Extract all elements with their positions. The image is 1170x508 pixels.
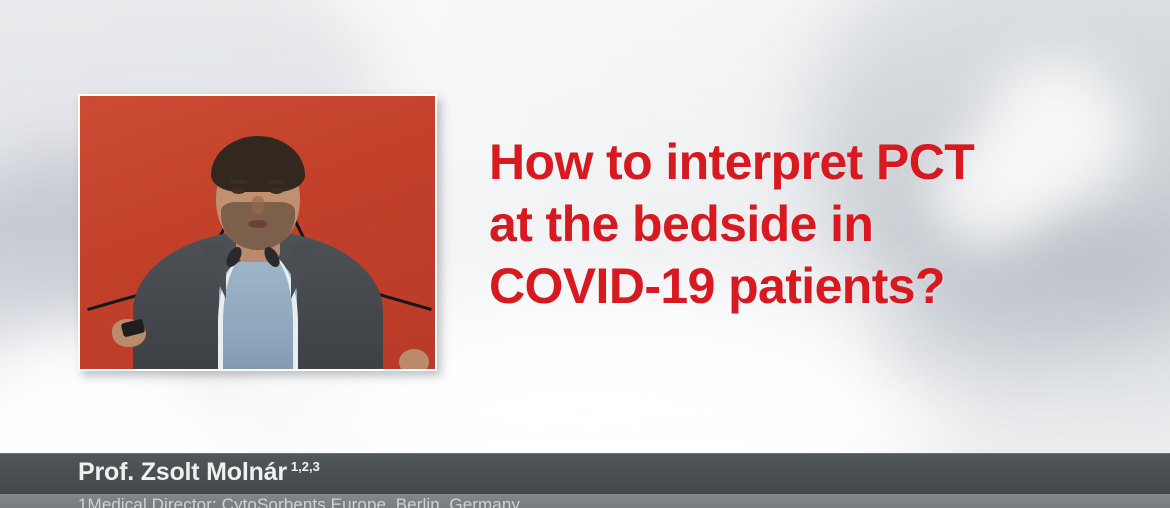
speaker-name-text: Prof. Zsolt Molnár	[78, 458, 287, 486]
slide-title-line-1: How to interpret PCT	[489, 131, 1089, 193]
speaker-nose	[251, 196, 264, 214]
speaker-eye-left	[232, 188, 245, 194]
speaker-jacket-lapel-left	[200, 243, 226, 299]
speaker-mouth	[248, 220, 268, 228]
speaker-jacket-lapel-right	[291, 243, 317, 299]
speaker-hand-right	[399, 349, 429, 369]
slide-title-line-3: COVID-19 patients?	[489, 255, 1089, 317]
speaker-photo-image	[80, 96, 435, 369]
speaker-affiliation-markers: 1,2,3	[291, 459, 320, 474]
presentation-slide: How to interpret PCT at the bedside in C…	[0, 0, 1170, 508]
slide-title: How to interpret PCT at the bedside in C…	[489, 131, 1089, 317]
speaker-eyebrow-left	[230, 180, 247, 184]
slide-title-line-2: at the bedside in	[489, 193, 1089, 255]
speaker-photo	[78, 94, 437, 371]
speaker-eye-right	[270, 188, 283, 194]
speaker-affiliation-line-1: 1Medical Director: CytoSorbents Europe, …	[78, 495, 520, 508]
speaker-name: Prof. Zsolt Molnár1,2,3	[78, 458, 320, 487]
speaker-eyebrow-right	[268, 180, 285, 184]
speaker-lanyard	[218, 253, 298, 369]
